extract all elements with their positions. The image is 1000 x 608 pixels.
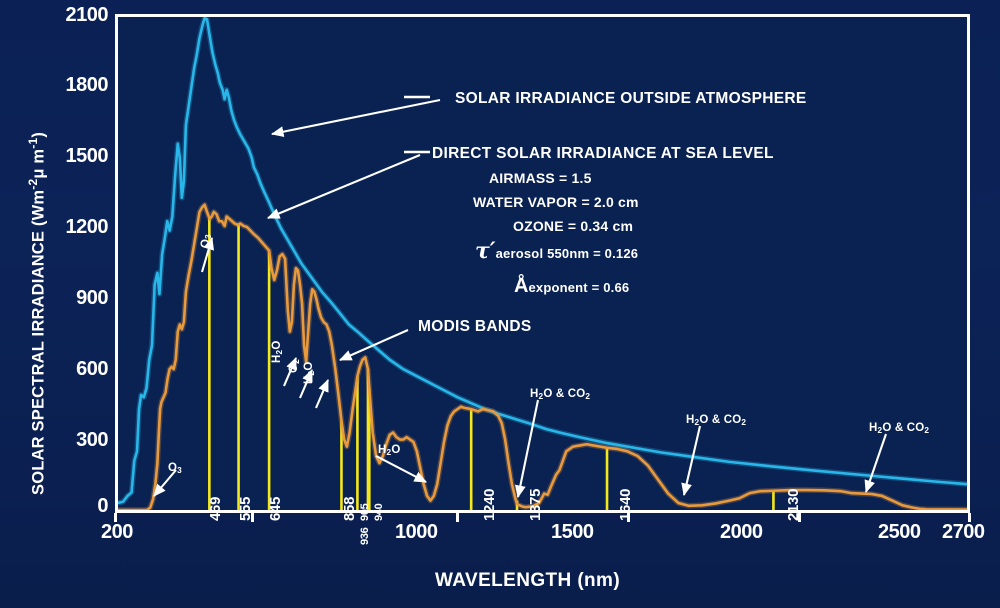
x-axis-title: WAVELENGTH (nm) (435, 570, 620, 592)
x-tickmark-1500 (456, 513, 459, 522)
legend-sealevel-label: DIRECT SOLAR IRRADIANCE AT SEA LEVEL (432, 145, 774, 163)
param-angstrom-label: exponent = 0.66 (528, 280, 629, 295)
x-tick-200: 200 (101, 521, 133, 544)
x-tick-940: 940 (373, 504, 385, 521)
y-tick-1200: 1200 (22, 216, 108, 239)
x-tick-1640: 1640 (617, 489, 634, 521)
x-tick-2130: 2130 (785, 489, 802, 521)
annotation-h2o-co2-2: H2O & CO2 (686, 414, 746, 427)
annotation-h2o-c: H2O (378, 444, 400, 457)
y-tick-900: 900 (22, 287, 108, 310)
y-axis-paren: ) (30, 132, 48, 138)
chart-figure: SOLAR SPECTRAL IRRADIANCE (Wm-2μ m-1) 21… (0, 0, 1000, 608)
legend-extraterrestrial-label: SOLAR IRRADIANCE OUTSIDE ATMOSPHERE (455, 90, 807, 108)
param-angstrom-exponent: Åexponent = 0.66 (514, 275, 629, 298)
x-tick-858: 858 (341, 497, 358, 521)
param-ozone: OZONE = 0.34 cm (513, 218, 633, 234)
y-tick-300: 300 (22, 429, 108, 452)
y-tick-1800: 1800 (22, 74, 108, 97)
annotation-h2o-a: H2O (271, 341, 284, 363)
param-aerosol-label: aerosol 550nm = 0.126 (496, 246, 639, 261)
angstrom-symbol: Å (514, 275, 528, 297)
annotation-h2o-co2-1: H2O & CO2 (530, 388, 590, 401)
y-tick-1500: 1500 (22, 145, 108, 168)
y-tick-2100: 2100 (22, 4, 108, 27)
x-tick-1500: 1500 (551, 521, 594, 544)
x-tick-936: 936 (359, 528, 371, 545)
x-tick-555: 555 (237, 497, 254, 521)
tau-symbol: τ′ (475, 238, 496, 264)
x-tick-2000: 2000 (720, 521, 763, 544)
x-tick-645: 645 (267, 497, 284, 521)
x-tick-1000: 1000 (395, 521, 438, 544)
annotation-h2o-co2-3: H2O & CO2 (869, 422, 929, 435)
x-tick-2500: 2500 (878, 521, 921, 544)
annotation-h2o-b: H2O (303, 362, 316, 384)
x-tick-1240: 1240 (481, 489, 498, 521)
x-tick-1375: 1375 (527, 489, 544, 521)
param-aerosol-tau: τ′aerosol 550nm = 0.126 (475, 238, 638, 264)
y-axis-exp-1: -2 (26, 179, 40, 190)
annotation-o3-lower: O3 (168, 462, 182, 475)
annotation-o2: O2 (288, 359, 301, 373)
annotation-o3-upper: O3 (200, 234, 213, 248)
legend-modis-bands-label: MODIS BANDS (418, 318, 532, 336)
y-tick-600: 600 (22, 358, 108, 381)
param-water-vapor: WATER VAPOR = 2.0 cm (473, 194, 639, 210)
x-tick-2700: 2700 (942, 521, 985, 544)
x-tick-469: 469 (207, 497, 224, 521)
x-tick-905: 905 (359, 504, 371, 521)
param-airmass: AIRMASS = 1.5 (489, 170, 592, 186)
y-tick-0: 0 (22, 495, 108, 518)
